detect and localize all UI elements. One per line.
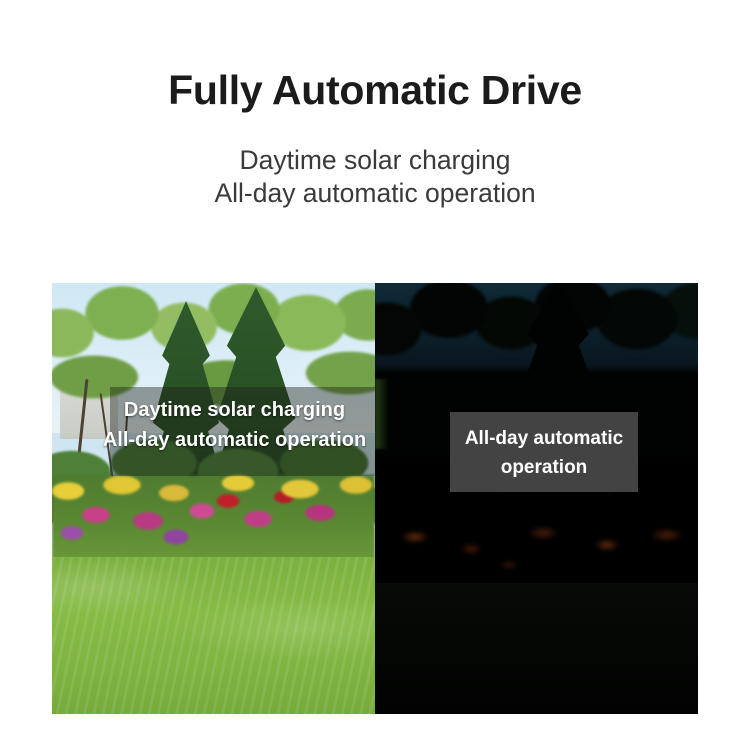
page-title: Fully Automatic Drive [0, 70, 750, 111]
subtitle-line-2: All-day automatic operation [0, 177, 750, 210]
night-caption-line-1: All-day automatic [450, 424, 638, 453]
day-caption: Daytime solar charging All-day automatic… [94, 395, 375, 455]
night-caption-line-2: operation [450, 453, 638, 482]
night-scene-panel: All-day automatic operation [375, 283, 698, 714]
subtitle-line-1: Daytime solar charging [0, 144, 750, 177]
day-scene-panel: Daytime solar charging All-day automatic… [52, 283, 375, 714]
product-feature-page: Fully Automatic Drive Daytime solar char… [0, 0, 750, 750]
comparison-image-block: Daytime solar charging All-day automatic… [52, 283, 698, 714]
night-edge-foliage [375, 379, 389, 449]
page-subtitle: Daytime solar charging All-day automatic… [0, 144, 750, 210]
day-caption-line-2: All-day automatic operation [94, 425, 375, 455]
day-caption-line-1: Daytime solar charging [94, 395, 375, 425]
night-caption: All-day automatic operation [450, 424, 638, 482]
day-lawn [52, 557, 375, 714]
night-ground [375, 583, 698, 714]
